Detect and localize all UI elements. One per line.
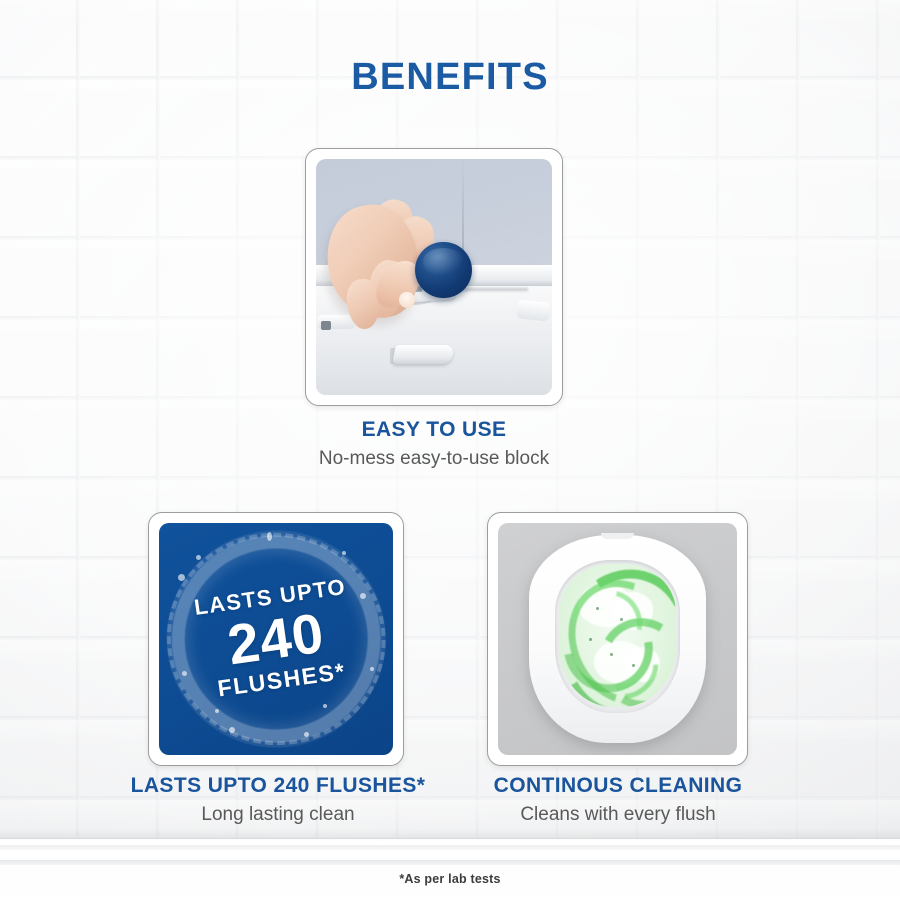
benefit-card-continous-cleaning [487, 512, 748, 766]
benefit-image-continous-cleaning [498, 523, 737, 755]
toilet-bowl-water [559, 564, 676, 708]
toilet-bowl-photo [498, 523, 737, 755]
cistern-pipe [516, 299, 551, 321]
benefit-title: LASTS UPTO 240 FLUSHES* [88, 774, 468, 798]
benefit-subtitle: Cleans with every flush [468, 803, 768, 827]
benefit-card-lasts-upto-240-flushes: LASTS UPTO 240 FLUSHES* [148, 512, 404, 766]
benefit-caption-240-flushes: LASTS UPTO 240 FLUSHES* Long lasting cle… [88, 774, 468, 827]
baseboard-trim [0, 838, 900, 900]
badge-text-block: LASTS UPTO 240 FLUSHES* [159, 523, 393, 755]
benefit-title: EASY TO USE [284, 418, 584, 442]
benefit-card-easy-to-use [305, 148, 563, 406]
benefit-subtitle: Long lasting clean [88, 803, 468, 827]
benefit-subtitle: No-mess easy-to-use block [284, 447, 584, 471]
benefit-title: CONTINOUS CLEANING [468, 774, 768, 798]
cistern-handle [392, 345, 454, 364]
baseboard-shadow [0, 828, 900, 838]
blue-toilet-block [415, 242, 472, 299]
cistern-photo [316, 159, 552, 395]
benefit-caption-easy-to-use: EASY TO USE No-mess easy-to-use block [284, 418, 584, 471]
benefit-image-easy-to-use [316, 159, 552, 395]
benefit-caption-continous-cleaning: CONTINOUS CLEANING Cleans with every flu… [468, 774, 768, 827]
page-title: BENEFITS [0, 56, 900, 99]
blue-badge-background: LASTS UPTO 240 FLUSHES* [159, 523, 393, 755]
footnote: *As per lab tests [0, 872, 900, 886]
toilet-seat-notch [601, 533, 634, 539]
speck [632, 664, 635, 667]
benefit-image-240-flushes: LASTS UPTO 240 FLUSHES* [159, 523, 393, 755]
benefits-infographic: BENEFITS [0, 0, 900, 900]
